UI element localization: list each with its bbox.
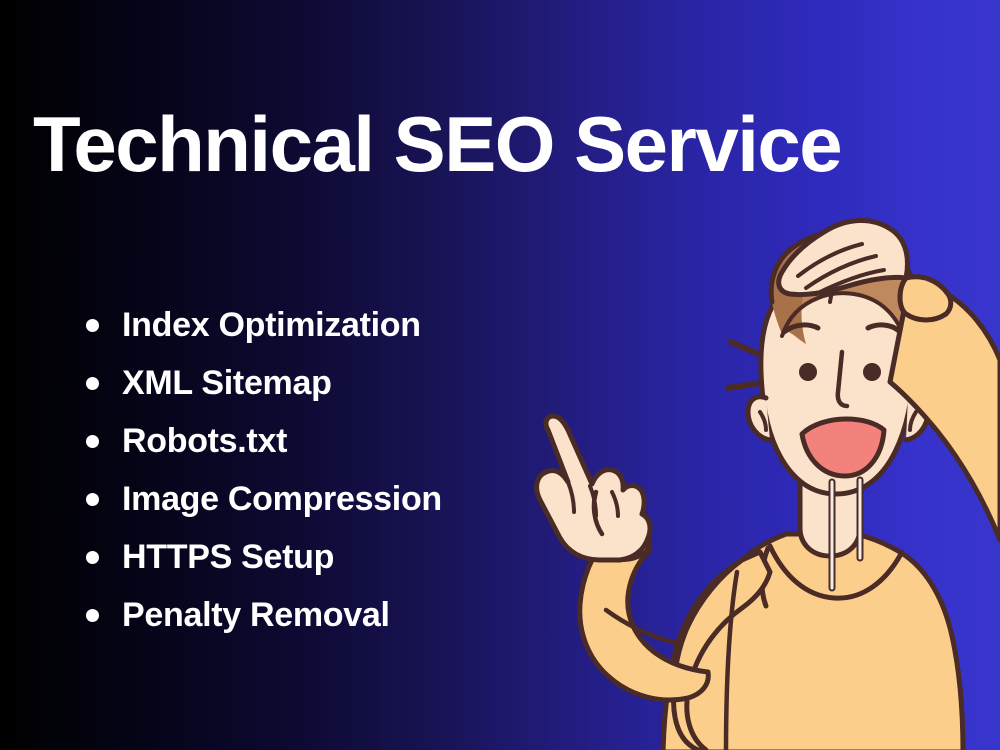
right-sleeve [890,292,1000,540]
neck [800,470,860,556]
hoodie-collar [770,546,902,598]
bullet-marker-icon [86,609,99,622]
list-item-label: Robots.txt [122,422,287,461]
nose [838,352,847,406]
thumb-crease [594,492,602,534]
left-forearm [580,536,709,700]
list-item-label: Penalty Removal [122,596,390,635]
eye-left [799,363,817,381]
list-item-label: XML Sitemap [122,364,332,403]
ear-right [906,395,928,440]
hairline [782,293,908,352]
list-item: Penalty Removal [84,586,442,644]
hand-on-head-fingers [798,244,884,294]
page-title: Technical SEO Service [33,104,841,186]
hoodie-drawstrings [832,480,860,588]
left-cuff [592,521,650,560]
slide-canvas: Technical SEO Service Index Optimization… [0,0,1000,750]
bullet-marker-icon [86,435,99,448]
hoodie-body [663,534,963,750]
bullet-marker-icon [86,551,99,564]
bullet-marker-icon [86,319,99,332]
head [761,258,913,494]
eyebrow-right [868,325,900,332]
ear-left [748,397,770,440]
list-item-label: Index Optimization [122,306,421,345]
list-item: Robots.txt [84,412,442,470]
list-item-label: HTTPS Setup [122,538,334,577]
eye-right [863,363,881,381]
pointing-hand-knuckles [568,482,618,516]
service-feature-list: Index Optimization XML Sitemap Robots.tx… [84,296,442,644]
hair-wisp [830,262,848,302]
ear-right-inner [910,412,916,430]
motion-lines-icon [728,342,793,388]
left-sleeve [674,552,770,750]
bullet-marker-icon [86,493,99,506]
list-item: Image Compression [84,470,442,528]
right-cuff [900,277,951,320]
list-item-label: Image Compression [122,480,442,519]
list-item: Index Optimization [84,296,442,354]
hair [771,232,917,352]
ear-left-inner [760,412,766,430]
bullet-marker-icon [86,377,99,390]
list-item: HTTPS Setup [84,528,442,586]
left-elbow-crease [606,610,680,644]
hoodie-collar-left [762,548,768,606]
list-item: XML Sitemap [84,354,442,412]
eyebrow-left [784,325,818,332]
hair-outline [771,232,917,352]
hoodie-seam-left [726,572,737,750]
mouth [802,419,884,476]
hair-shadow-left [771,231,846,344]
pointing-hand [537,416,650,560]
hand-on-head [779,220,908,294]
